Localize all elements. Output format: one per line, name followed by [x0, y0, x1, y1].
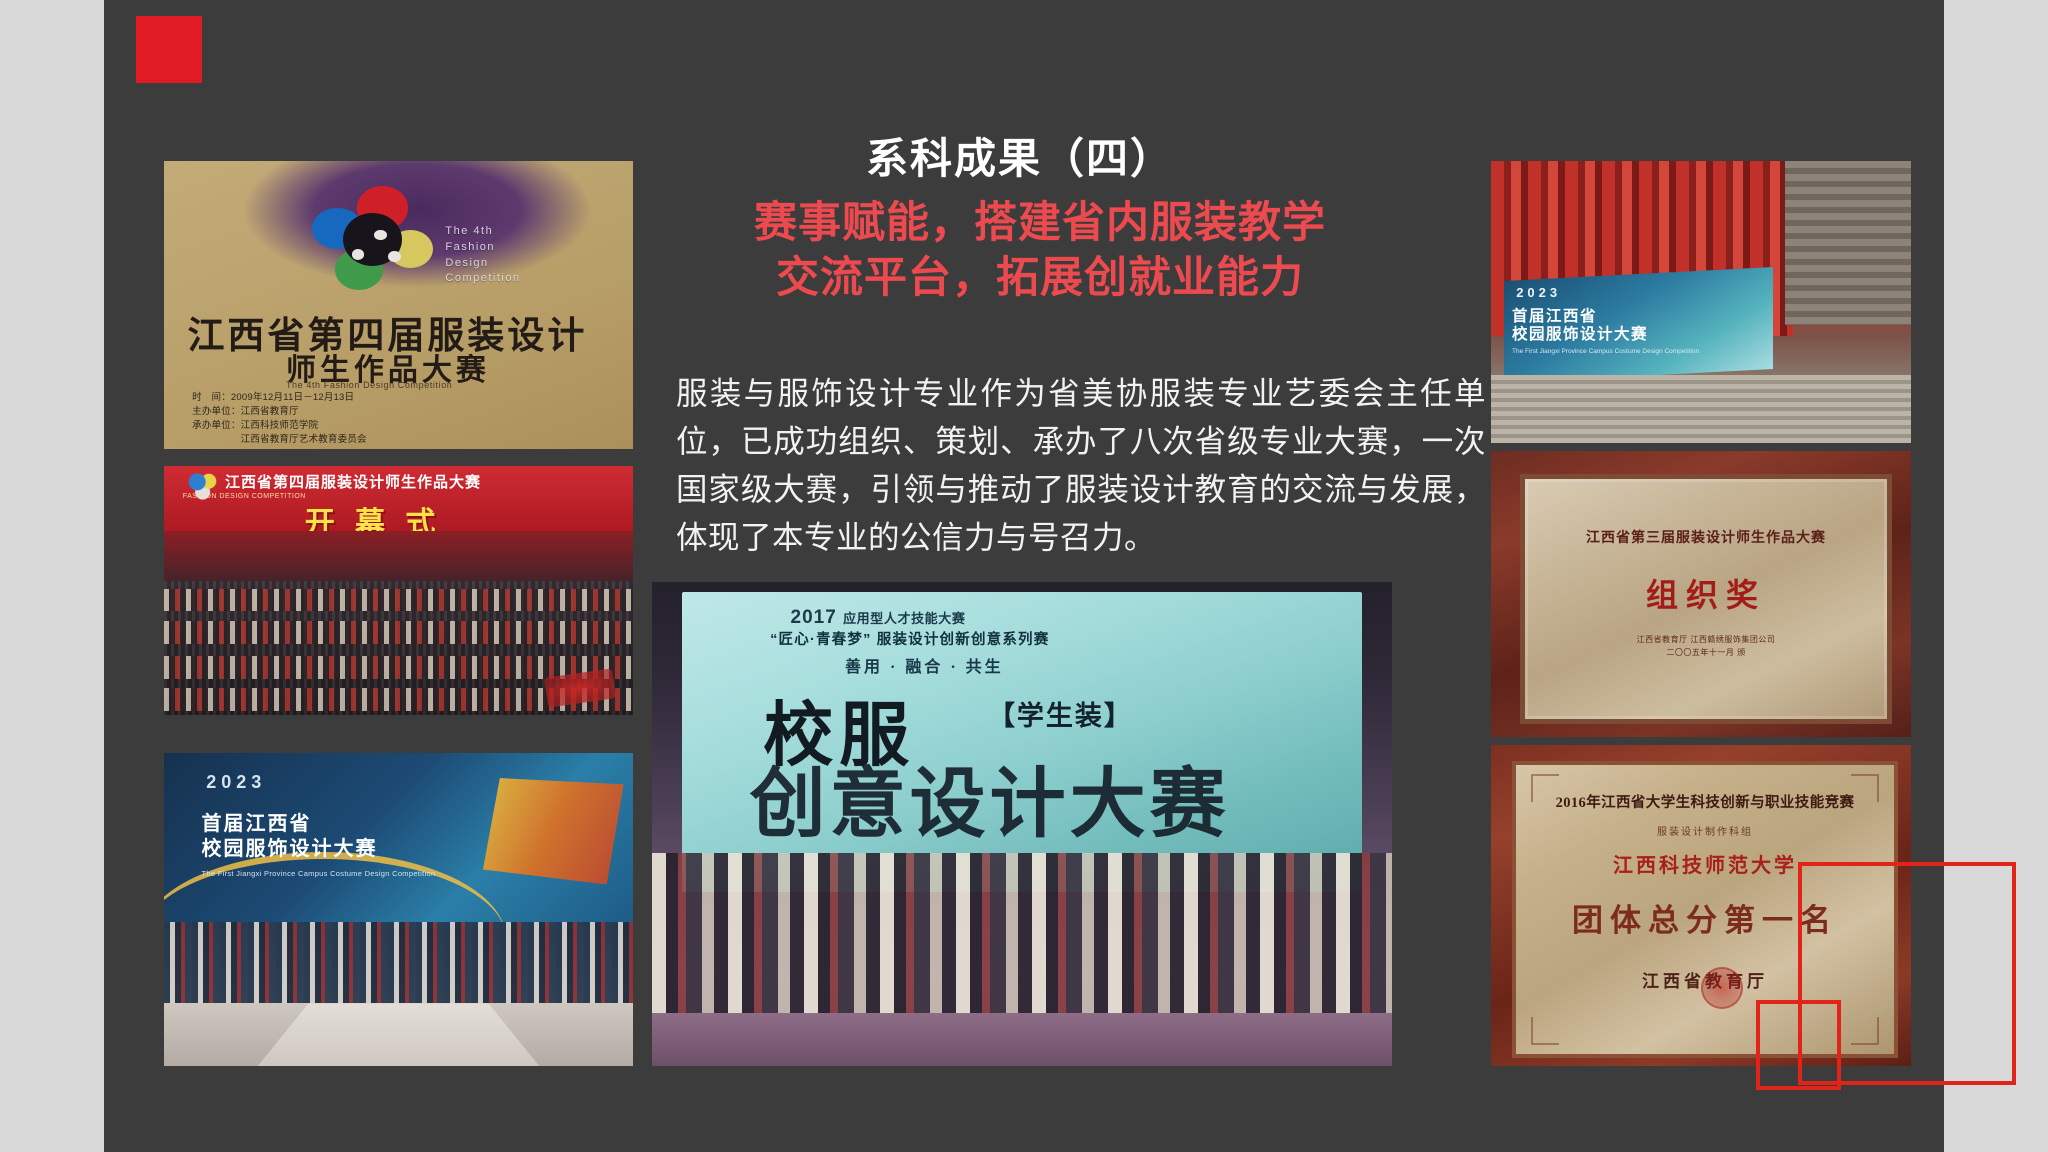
ceremony-scene: 江西省第四届服装设计师生作品大赛 FASHION DESIGN COMPETIT… [164, 466, 633, 715]
venue-banner-line-1: 首届江西省 [1512, 308, 1648, 327]
poster-detail-line-2: 主办单位：江西省教育厅 [192, 405, 367, 419]
campus-group-photo-row [164, 922, 633, 1003]
stage-headline-1: 应用型人才技能大赛 [843, 611, 965, 626]
slide-title: 系科成果（四） [690, 136, 1350, 182]
plaque-face-organization: 江西省第三届服装设计师生作品大赛 组织奖 江西省教育厅 江西赣绣服饰集团公司 二… [1520, 474, 1891, 724]
poster-en-line-2: Fashion [445, 240, 520, 256]
campus-ribbon-graphic [483, 778, 624, 884]
campus-year-label: 2023 [206, 772, 266, 793]
venue-banner-line-2: 校园服饰设计大赛 [1512, 326, 1648, 345]
plaque-prize-subheader: 服装设计制作科组 [1516, 823, 1894, 838]
ceremony-banner-title: 江西省第四届服装设计师生作品大赛 [225, 471, 481, 492]
stage-scene: 2017 应用型人才技能大赛 “匠心·青春梦” 服装设计创新创意系列赛 善用 ·… [652, 582, 1392, 1066]
slide-frame-left [0, 0, 104, 1152]
stage-led-screen: 2017 应用型人才技能大赛 “匠心·青春梦” 服装设计创新创意系列赛 善用 ·… [682, 592, 1363, 892]
photo-opening-ceremony: 江西省第四届服装设计师生作品大赛 FASHION DESIGN COMPETIT… [164, 466, 633, 715]
poster-artwork: The 4th Fashion Design Competition 江西省第四… [164, 161, 633, 449]
slide-body-paragraph: 服装与服饰设计专业作为省美协服装专业艺委会主任单位，已成功组织、策划、承办了八次… [676, 370, 1486, 562]
annotation-rectangle-small [1756, 1000, 1841, 1090]
plaque-org-issuer-line-1: 江西省教育厅 江西赣绣服饰集团公司 [1525, 633, 1886, 647]
plaque-org-issuer: 江西省教育厅 江西赣绣服饰集团公司 二〇〇五年十一月 颁 [1525, 633, 1886, 660]
poster-detail-block: 时 间：2009年12月11日－12月13日 主办单位：江西省教育厅 承办单位：… [192, 391, 367, 446]
photo-organization-award-plaque: 江西省第三届服装设计师生作品大赛 组织奖 江西省教育厅 江西赣绣服饰集团公司 二… [1491, 451, 1911, 737]
stage-big-text-2: 创意设计大赛 [750, 742, 1230, 852]
poster-detail-line-4: 江西省教育厅艺术教育委员会 [192, 433, 367, 447]
poster-detail-line-3: 承办单位：江西科技师范学院 [192, 419, 367, 433]
plaque-org-issuer-line-2: 二〇〇五年十一月 颁 [1525, 646, 1886, 660]
slide-subtitle-line-1: 赛事赋能，搭建省内服装教学 [690, 196, 1390, 251]
campus-title: 首届江西省 校园服饰设计大赛 [202, 812, 378, 861]
ceremony-banner-subtitle: FASHION DESIGN COMPETITION [183, 493, 306, 500]
photo-red-pillars-venue: 2023 首届江西省 校园服饰设计大赛 The First Jiangxi Pr… [1491, 161, 1911, 443]
poster-logo-icon [309, 181, 450, 302]
stage-headline-3: 善用 · 融合 · 共生 [845, 653, 1004, 677]
campus-subtitle-en: The First Jiangxi Province Campus Costum… [202, 869, 436, 880]
stage-year-headline: 2017 应用型人才技能大赛 [791, 607, 966, 629]
poster-en-line-4: Competition [445, 271, 520, 287]
venue-banner-subtitle-en: The First Jiangxi Province Campus Costum… [1512, 347, 1699, 356]
red-accent-square [136, 16, 202, 83]
plaque-corner-ornament-icon [1531, 1017, 1559, 1045]
photo-center-stage-2017: 2017 应用型人才技能大赛 “匠心·青春梦” 服装设计创新创意系列赛 善用 ·… [652, 582, 1392, 1066]
poster-english-caption: The 4th Fashion Design Competition [445, 224, 520, 286]
stage-floor [652, 1013, 1392, 1066]
campus-runway-scene: 2023 首届江西省 校园服饰设计大赛 The First Jiangxi Pr… [164, 753, 633, 1066]
venue-steps [1491, 375, 1911, 443]
stage-bracket-text: 【学生装】 [988, 694, 1133, 733]
slide-subtitle: 赛事赋能，搭建省内服装教学 交流平台，拓展创就业能力 [690, 196, 1390, 306]
photo-fourth-competition-poster: The 4th Fashion Design Competition 江西省第四… [164, 161, 633, 449]
ceremony-stage [164, 531, 633, 581]
venue-year-label: 2023 [1516, 285, 1561, 300]
poster-en-line-3: Design [445, 256, 520, 272]
poster-detail-line-1: 时 间：2009年12月11日－12月13日 [192, 391, 367, 405]
plaque-frame-organization: 江西省第三届服装设计师生作品大赛 组织奖 江西省教育厅 江西赣绣服饰集团公司 二… [1491, 451, 1911, 737]
plaque-org-header: 江西省第三届服装设计师生作品大赛 [1525, 527, 1886, 547]
stage-year: 2017 [791, 607, 837, 628]
venue-building [1785, 161, 1911, 325]
venue-scene: 2023 首届江西省 校园服饰设计大赛 The First Jiangxi Pr… [1491, 161, 1911, 443]
photo-campus-runway-2023: 2023 首届江西省 校园服饰设计大赛 The First Jiangxi Pr… [164, 753, 633, 1066]
poster-en-line-1: The 4th [445, 224, 520, 240]
stage-headline-2: “匠心·青春梦” 服装设计创新创意系列赛 [770, 628, 1049, 649]
poster-title-english: The 4th Fashion Design Competition [286, 380, 452, 390]
plaque-prize-seal-icon [1701, 967, 1743, 1009]
presentation-slide: 系科成果（四） 赛事赋能，搭建省内服装教学 交流平台，拓展创就业能力 服装与服饰… [0, 0, 2048, 1152]
campus-title-line-2: 校园服饰设计大赛 [202, 837, 378, 861]
plaque-org-award: 组织奖 [1525, 570, 1886, 616]
venue-banner-title: 首届江西省 校园服饰设计大赛 [1512, 308, 1648, 345]
plaque-prize-header: 2016年江西省大学生科技创新与职业技能竞赛 [1516, 791, 1894, 812]
slide-subtitle-line-2: 交流平台，拓展创就业能力 [690, 251, 1390, 306]
campus-title-line-1: 首届江西省 [202, 812, 378, 836]
